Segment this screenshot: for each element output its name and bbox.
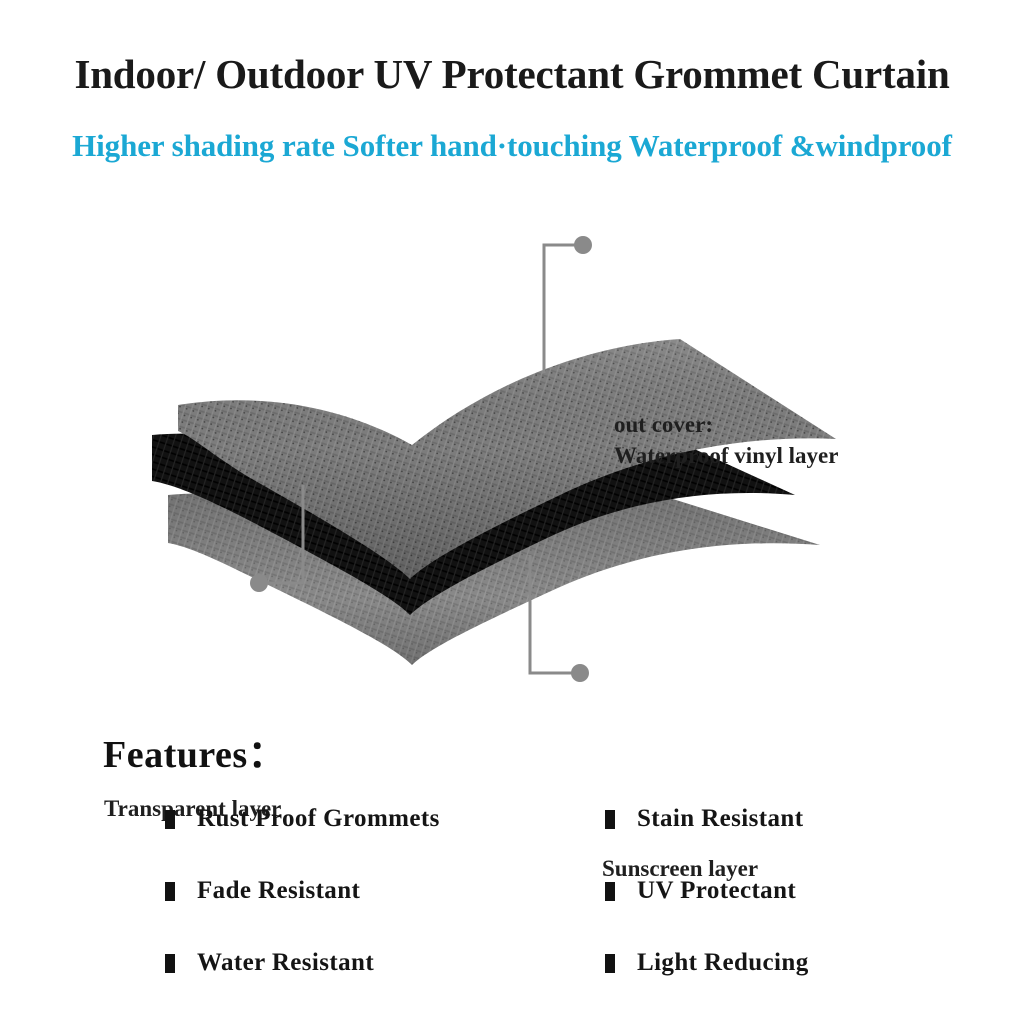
square-bullet-icon bbox=[165, 882, 175, 901]
feature-item: Water Resistant bbox=[165, 949, 605, 977]
feature-item: Fade Resistant bbox=[165, 877, 605, 905]
layer-diagram-svg bbox=[0, 195, 1024, 715]
square-bullet-icon bbox=[165, 810, 175, 829]
feature-item: UV Protectant bbox=[605, 877, 965, 905]
feature-item: Rust Proof Grommets bbox=[165, 805, 605, 833]
features-heading: Features： bbox=[103, 723, 286, 778]
callout-out-cover-line2: Waterproof vinyl layer bbox=[614, 440, 838, 471]
feature-row: Water Resistant Light Reducing bbox=[165, 949, 965, 1021]
page-subtitle: Higher shading rate Softer hand·touching… bbox=[0, 128, 1024, 164]
square-bullet-icon bbox=[165, 954, 175, 973]
feature-label: Rust Proof Grommets bbox=[197, 805, 440, 833]
leader-dot-out-cover bbox=[574, 236, 592, 254]
feature-row: Fade Resistant UV Protectant bbox=[165, 877, 965, 949]
square-bullet-icon bbox=[605, 810, 615, 829]
square-bullet-icon bbox=[605, 882, 615, 901]
page-title: Indoor/ Outdoor UV Protectant Grommet Cu… bbox=[0, 50, 1024, 98]
features-list: Rust Proof Grommets Stain Resistant Fade… bbox=[165, 805, 965, 1021]
leader-out-cover bbox=[544, 245, 576, 373]
feature-label: UV Protectant bbox=[637, 877, 796, 905]
feature-label: Water Resistant bbox=[197, 949, 374, 977]
feature-row: Rust Proof Grommets Stain Resistant bbox=[165, 805, 965, 877]
feature-label: Fade Resistant bbox=[197, 877, 360, 905]
feature-label: Light Reducing bbox=[637, 949, 809, 977]
product-infographic: Indoor/ Outdoor UV Protectant Grommet Cu… bbox=[0, 0, 1024, 1024]
leader-dot-transparent bbox=[250, 574, 268, 592]
feature-item: Light Reducing bbox=[605, 949, 965, 977]
leader-dot-sunscreen bbox=[571, 664, 589, 682]
feature-item: Stain Resistant bbox=[605, 805, 965, 833]
callout-out-cover: out cover: Waterproof vinyl layer bbox=[614, 409, 838, 471]
square-bullet-icon bbox=[605, 954, 615, 973]
callout-out-cover-line1: out cover: bbox=[614, 409, 838, 440]
feature-label: Stain Resistant bbox=[637, 805, 803, 833]
layer-diagram: out cover: Waterproof vinyl layer Transp… bbox=[0, 195, 1024, 715]
